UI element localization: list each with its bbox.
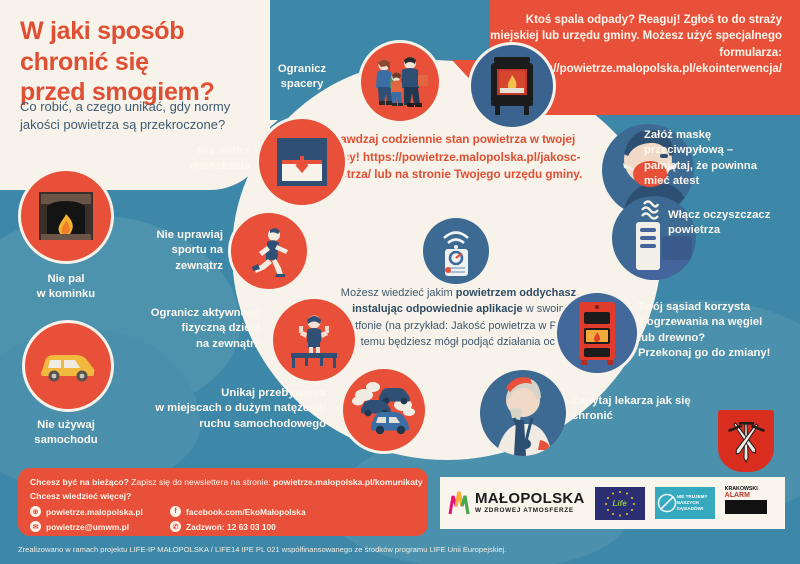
child-playground-icon	[285, 311, 343, 369]
window-close-icon	[273, 134, 331, 190]
phone-icon: ✆	[170, 521, 181, 532]
krakowski-alarm-smogowy-logo: KRAKOWSKI ALARM	[725, 487, 767, 520]
tip-label-neighbour-coal: Twój sąsiad korzysta z ogrzewania na węg…	[638, 300, 794, 361]
tip-icon-stove[interactable]	[468, 42, 556, 130]
project-credit: Zrealizowano w ramach projektu LIFE-IP M…	[18, 545, 506, 554]
contact-website-text: powietrze.malopolska.pl	[46, 507, 143, 517]
tip-icon-no-car[interactable]	[22, 320, 114, 412]
contact-phone-text: Zadzwoń: 12 63 03 100	[186, 522, 276, 532]
newsletter-url[interactable]: powietrze.malopolska.pl/komunikaty	[273, 477, 422, 487]
malopolska-logo-name: MAŁOPOLSKA	[475, 491, 585, 506]
coat-of-arms	[718, 410, 774, 480]
traffic-cars-icon	[351, 379, 417, 441]
newsletter-line: Chcesz być na bieżąco? Zapisz się do new…	[30, 476, 430, 488]
eu-stars-icon	[595, 487, 645, 520]
tip-icon-limit-walks[interactable]	[358, 40, 442, 124]
kas-line-2: ALARM	[725, 492, 767, 499]
tip-label-wear-mask: Załóż maskę przeciwpyłową – pamiętaj, że…	[644, 128, 794, 189]
contact-website[interactable]: ⊕ powietrze.malopolska.pl	[30, 506, 143, 517]
tip-icon-neighbour-coal[interactable]	[554, 290, 640, 376]
email-icon: ✉	[30, 521, 41, 532]
doctor-icon	[480, 370, 566, 456]
tip-label-no-fireplace: Nie pal w kominku	[10, 272, 122, 303]
eu-life-logo: Life	[595, 487, 645, 520]
nie-trujemy-line-3: SĄSIADÓW!	[677, 506, 708, 512]
malopolska-logo: MAŁOPOLSKA W ZDROWEJ ATMOSFERZE	[448, 490, 585, 516]
coat-of-arms-shield	[718, 410, 774, 472]
nie-trujemy-logo: NIE TRUJEMY NASZYCH SĄSIADÓW!	[655, 487, 715, 519]
tip-label-air-purifier: Włącz oczyszczacz powietrza	[668, 208, 798, 239]
logo-band: MAŁOPOLSKA W ZDROWEJ ATMOSFERZE Life	[440, 477, 785, 529]
contact-email-text: powietrze@umwm.pl	[46, 522, 129, 532]
tip-icon-ask-doctor[interactable]	[480, 370, 566, 456]
contact-email[interactable]: ✉ powietrze@umwm.pl	[30, 521, 129, 532]
contact-facebook-text: facebook.com/EkoMałopolska	[186, 507, 306, 517]
tip-icon-no-airing[interactable]	[256, 116, 348, 208]
globe-icon: ⊕	[30, 506, 41, 517]
more-info-label: Chcesz wiedzieć więcej?	[30, 491, 131, 501]
tip-icon-avoid-traffic[interactable]	[340, 366, 428, 454]
tip-label-no-outdoor-sport: Nie uprawiaj sportu na zewnątrz	[128, 228, 223, 274]
family-walking-icon	[368, 53, 432, 111]
malopolska-mark-icon	[448, 490, 470, 516]
tip-icon-no-outdoor-sport[interactable]	[228, 210, 310, 292]
stove-icon	[486, 55, 538, 117]
tip-label-ask-doctor: Zapytaj lekarza jak się chronić	[572, 394, 718, 425]
kas-skyline	[725, 500, 767, 514]
malopolska-logo-tagline: W ZDROWEJ ATMOSFERZE	[475, 508, 585, 514]
page-title-line-1: W jaki sposób	[20, 16, 260, 47]
tip-label-no-car: Nie używaj samochodu	[6, 418, 126, 449]
facebook-icon: f	[170, 506, 181, 517]
tip-label-limit-kids-activity: Ogranicz aktywność fizyczną dzieci na ze…	[132, 306, 260, 352]
newsletter-text: Zapisz się do newslettera na stronie:	[129, 477, 273, 487]
no-smoke-icon	[657, 493, 677, 513]
fireplace-icon	[37, 190, 95, 242]
runner-icon	[243, 225, 295, 277]
page-subtitle: Co robić, a czego unikać, gdy normy jako…	[20, 98, 240, 135]
smartphone-app-icon	[429, 224, 483, 278]
contact-facebook[interactable]: f facebook.com/EkoMałopolska	[170, 506, 306, 517]
car-icon	[38, 349, 98, 383]
coal-boiler-icon	[573, 300, 621, 366]
infographic-poster: W jaki sposób chronić się przed smogiem?…	[0, 0, 800, 564]
tip-icon-smartphone-app[interactable]	[423, 218, 489, 284]
nie-trujemy-logo-text: NIE TRUJEMY NASZYCH SĄSIADÓW!	[677, 494, 708, 511]
newsletter-bold: Chcesz być na bieżąco?	[30, 477, 129, 487]
tip-label-avoid-traffic: Unikaj przebywania w miejscach o dużym n…	[130, 386, 326, 432]
tip-icon-no-fireplace[interactable]	[18, 168, 114, 264]
page-title: W jaki sposób chronić się przed smogiem?	[20, 16, 260, 108]
tip-icon-limit-kids-activity[interactable]	[270, 296, 358, 384]
app-info-pre: Możesz wiedzieć jakim	[341, 287, 456, 299]
page-title-line-2: chronić się	[20, 47, 260, 78]
tip-label-limit-walks: Ogranicz spacery	[256, 62, 348, 93]
three-swords-icon	[718, 410, 774, 472]
contact-phone[interactable]: ✆ Zadzwoń: 12 63 03 100	[170, 521, 276, 532]
tip-label-no-airing: Nie wietrz mieszkania	[160, 144, 250, 175]
